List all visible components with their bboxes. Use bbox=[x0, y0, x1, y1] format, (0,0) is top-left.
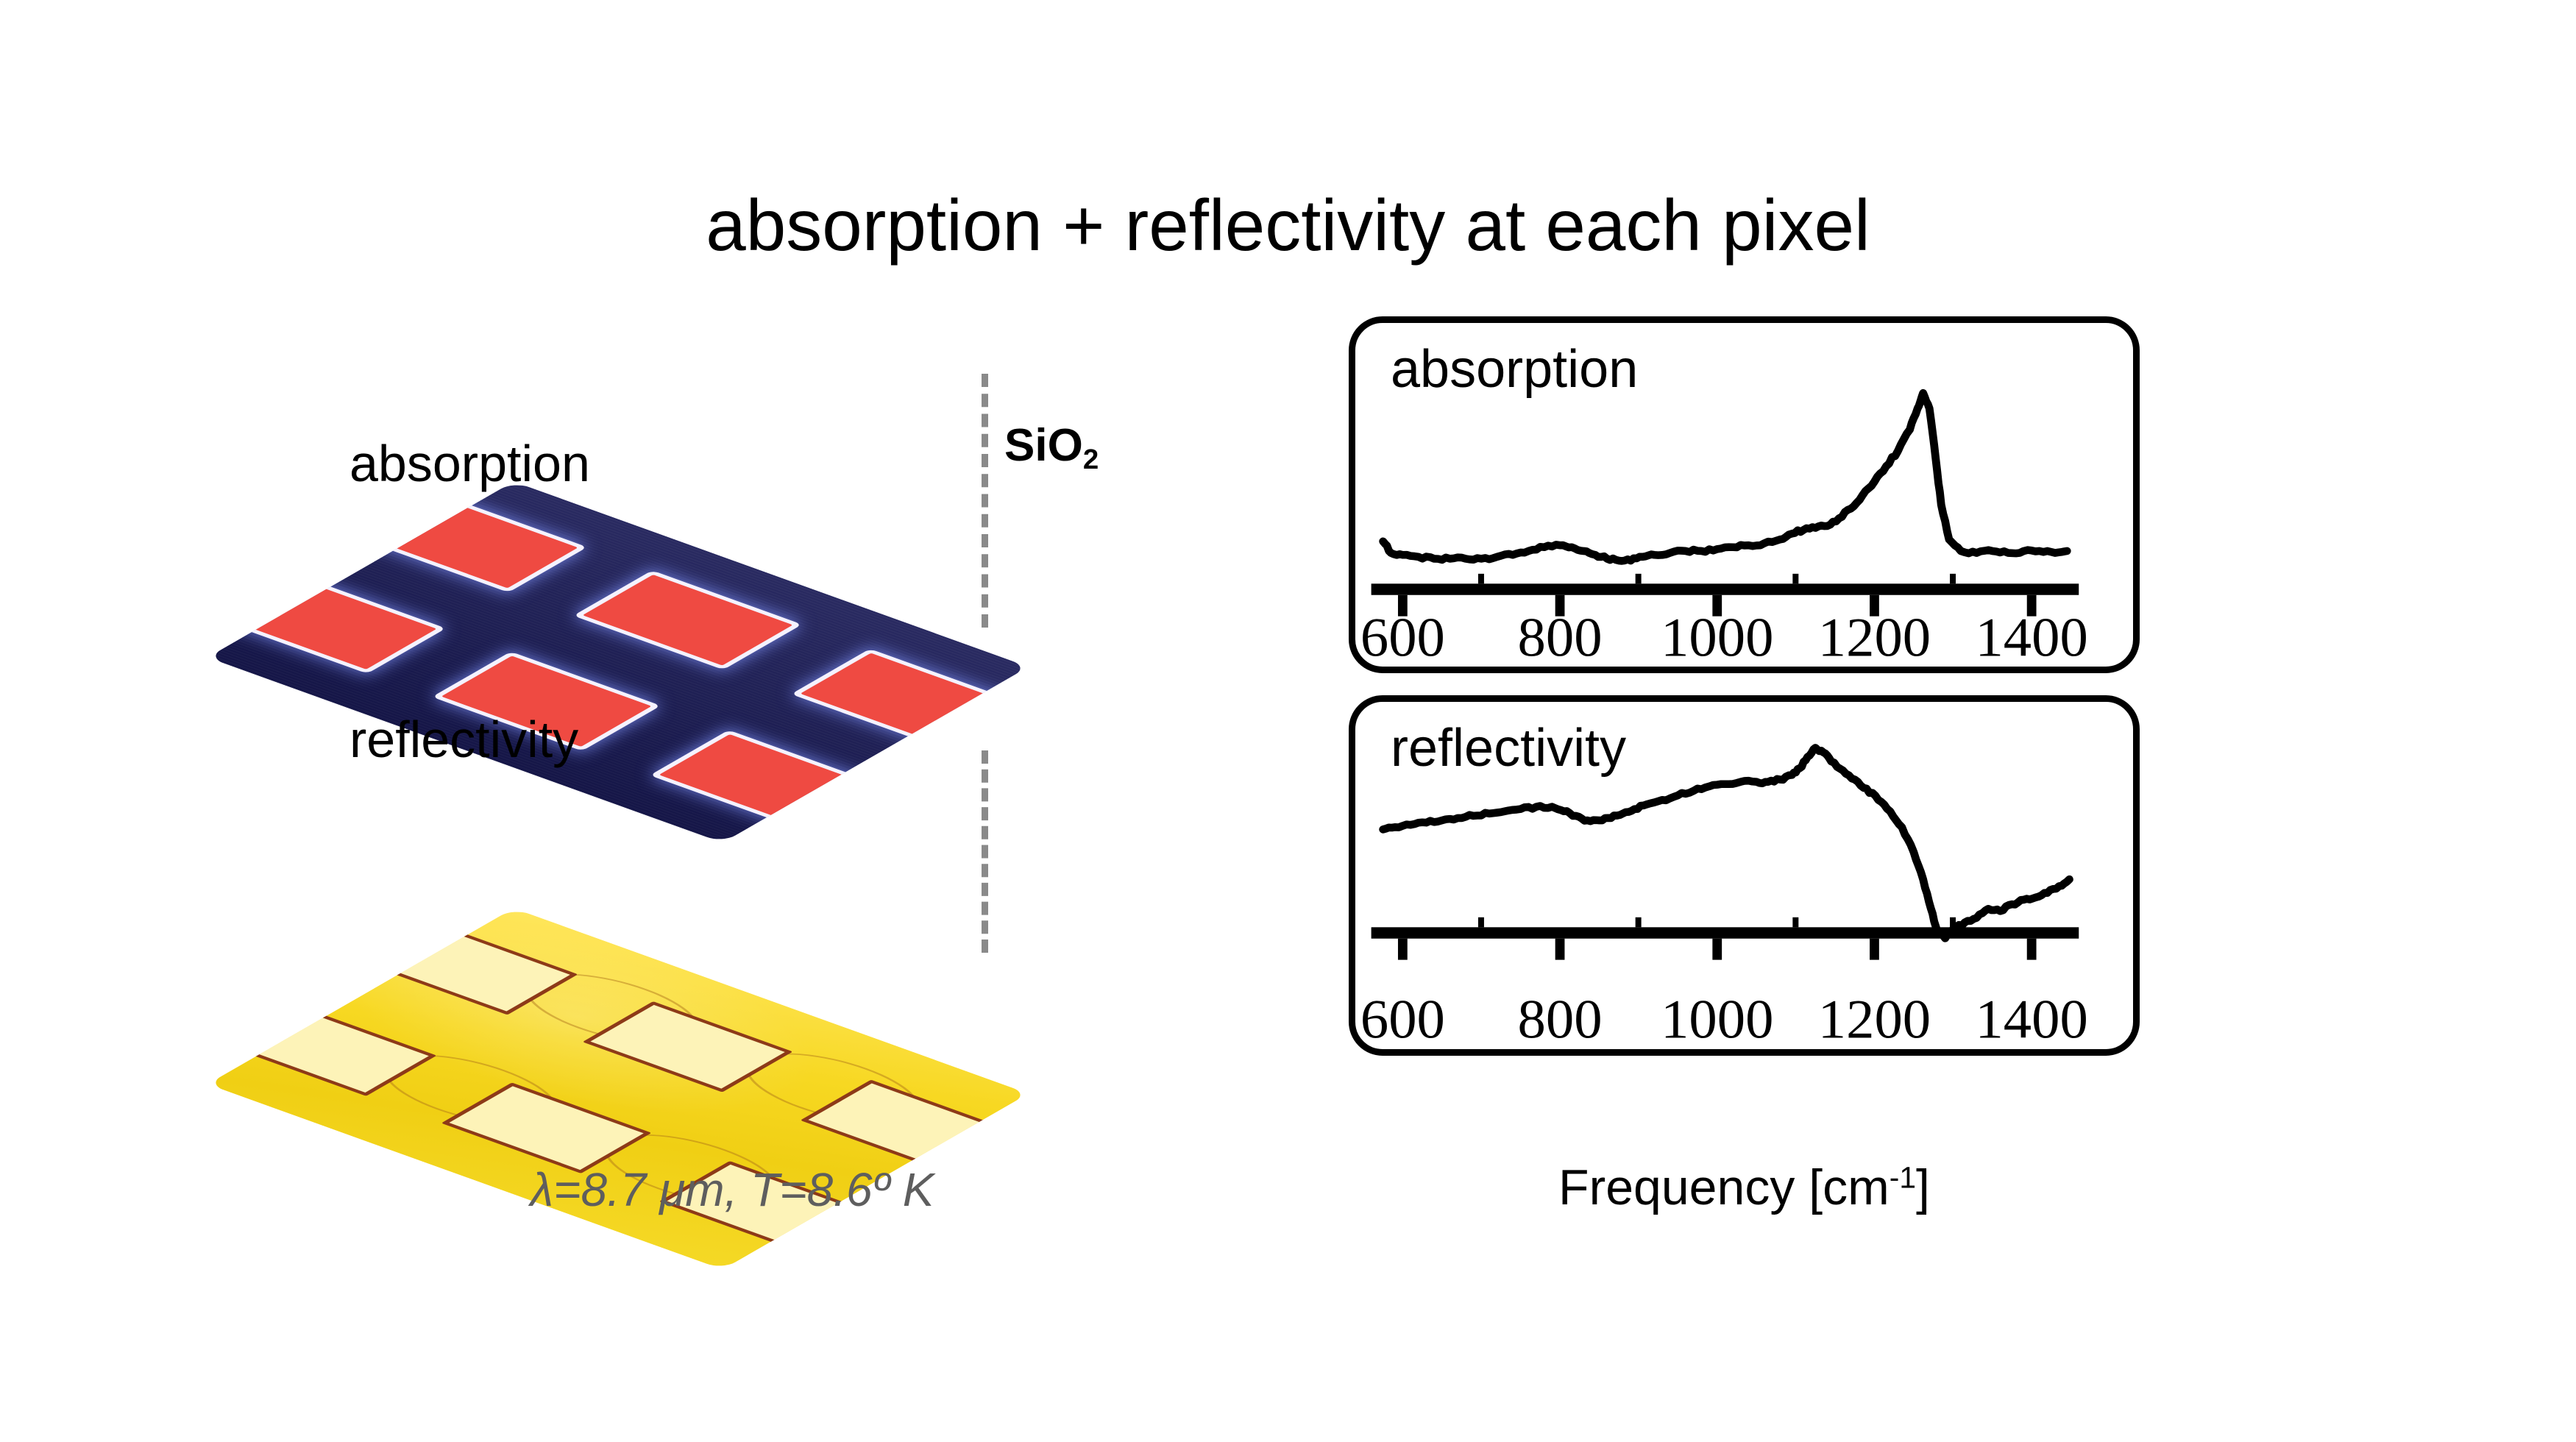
svg-text:1200: 1200 bbox=[1818, 607, 1931, 667]
absorption-spectrum-panel: absorption 600800100012001400 bbox=[1349, 316, 2140, 673]
svg-text:600: 600 bbox=[1360, 989, 1445, 1049]
frequency-axis-caption-text: Frequency [cm bbox=[1558, 1159, 1890, 1215]
illustration-caption: λ=8.7 μm, T=8.6º K bbox=[243, 1162, 1221, 1217]
absorption-spectrum-plot: 600800100012001400 bbox=[1355, 323, 2133, 667]
svg-text:600: 600 bbox=[1360, 607, 1445, 667]
material-label: SiO2 bbox=[1004, 419, 1099, 476]
absorption-plate-image bbox=[207, 481, 1029, 842]
svg-text:800: 800 bbox=[1518, 989, 1603, 1049]
svg-text:1400: 1400 bbox=[1975, 607, 2087, 667]
guide-line-upper bbox=[982, 374, 988, 628]
material-label-subscript: 2 bbox=[1083, 444, 1099, 475]
svg-text:1000: 1000 bbox=[1661, 607, 1773, 667]
absorption-plate-surface bbox=[207, 481, 1029, 842]
reflectivity-spectrum-panel: reflectivity 600800100012001400 bbox=[1349, 695, 2140, 1056]
absorption-patch bbox=[801, 653, 1011, 745]
frequency-axis-caption-exponent: -1 bbox=[1890, 1161, 1916, 1195]
absorption-patch bbox=[583, 575, 793, 666]
material-label-text: SiO bbox=[1004, 420, 1083, 471]
sample-illustration: SiO2 absorption reflectivity bbox=[243, 309, 1221, 1045]
reflectivity-spectrum-plot: 600800100012001400 bbox=[1355, 702, 2133, 1049]
svg-text:800: 800 bbox=[1518, 607, 1603, 667]
page-title: absorption + reflectivity at each pixel bbox=[0, 188, 2576, 263]
frequency-axis-caption-close: ] bbox=[1916, 1159, 1930, 1215]
spectra-panel: absorption 600800100012001400 reflectivi… bbox=[1349, 316, 2140, 1056]
svg-text:1000: 1000 bbox=[1661, 989, 1773, 1049]
svg-text:1200: 1200 bbox=[1818, 989, 1931, 1049]
guide-line-lower bbox=[982, 750, 988, 953]
absorption-plate-label: absorption bbox=[350, 434, 590, 493]
reflectivity-plate-label: reflectivity bbox=[350, 710, 578, 769]
frequency-axis-caption: Frequency [cm-1] bbox=[1349, 1159, 2140, 1216]
absorption-patch bbox=[368, 497, 578, 589]
absorption-patch bbox=[227, 578, 437, 669]
absorption-patch bbox=[659, 734, 870, 825]
svg-text:1400: 1400 bbox=[1975, 989, 2087, 1049]
